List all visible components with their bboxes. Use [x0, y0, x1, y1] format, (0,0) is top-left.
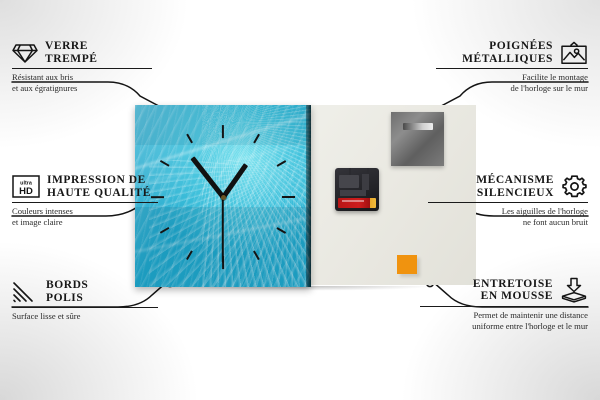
- divider: [12, 68, 152, 69]
- clock-tick: [276, 160, 286, 167]
- clock-tick: [253, 250, 260, 260]
- second-hand: [222, 197, 224, 263]
- product-photo: [135, 105, 476, 290]
- callout-impression-haute-qualite: ultra HD IMPRESSION DE HAUTE QUALITÉ Cou…: [12, 174, 158, 227]
- callout-title: BORDS POLIS: [46, 279, 88, 304]
- callout-description: Couleurs intenses et image claire: [12, 206, 158, 227]
- callout-verre-trempe: VERRE TREMPÉ Résistant aux bris et aux é…: [12, 40, 152, 93]
- callout-description: Les aiguilles de l'horloge ne font aucun…: [428, 206, 588, 227]
- callout-description: Facilite le montage de l'horloge sur le …: [436, 72, 588, 93]
- ultra-hd-icon: ultra HD: [12, 175, 40, 198]
- callout-description: Permet de maintenir une distance uniform…: [420, 310, 588, 331]
- divider: [436, 68, 588, 69]
- clock-tick: [282, 196, 295, 198]
- infographic-canvas: VERRE TREMPÉ Résistant aux bris et aux é…: [0, 0, 600, 400]
- hour-hand: [221, 163, 248, 198]
- diamond-icon: [12, 42, 38, 64]
- divider: [420, 306, 588, 307]
- clock-tick: [186, 134, 193, 144]
- clock-tick: [186, 250, 193, 260]
- handle-slot: [403, 123, 433, 130]
- picture-frame-icon: [560, 41, 588, 65]
- foam-spacer-icon: [560, 277, 588, 303]
- callout-description: Résistant aux bris et aux égratignures: [12, 72, 152, 93]
- callout-title: ENTRETOISE EN MOUSSE: [473, 278, 553, 303]
- minute-hand: [190, 156, 224, 198]
- clock-tick: [276, 227, 286, 234]
- clock-tick: [253, 134, 260, 144]
- callout-entretoise-en-mousse: ENTRETOISE EN MOUSSE Permet de maintenir…: [420, 277, 588, 331]
- metal-handle-plate: [391, 112, 444, 166]
- clock-mechanism: [335, 168, 379, 211]
- callout-mecanisme-silencieux: MÉCANISME SILENCIEUX Les aiguilles de l'…: [428, 174, 588, 227]
- callout-title: POIGNÉES MÉTALLIQUES: [462, 40, 553, 65]
- callout-title: VERRE TREMPÉ: [45, 40, 98, 65]
- divider: [12, 202, 158, 203]
- callout-title: IMPRESSION DE HAUTE QUALITÉ: [47, 174, 151, 199]
- clock-tick: [222, 125, 224, 138]
- wall-clock-face: [135, 105, 311, 287]
- clock-center-pin: [221, 195, 226, 200]
- clock-tick: [160, 227, 170, 234]
- callout-title: MÉCANISME SILENCIEUX: [476, 174, 554, 199]
- gear-icon: [561, 174, 588, 199]
- callout-description: Surface lisse et sûre: [12, 311, 158, 321]
- polished-edge-icon: [12, 281, 39, 303]
- foam-spacer: [397, 255, 417, 274]
- divider: [12, 307, 158, 308]
- callout-poignees-metalliques: POIGNÉES MÉTALLIQUES Facilite le montage…: [436, 40, 588, 93]
- callout-bords-polis: BORDS POLIS Surface lisse et sûre: [12, 279, 158, 322]
- clock-dial: [135, 105, 311, 287]
- battery: [338, 198, 376, 208]
- svg-text:HD: HD: [19, 186, 33, 197]
- divider: [428, 202, 588, 203]
- clock-tick: [160, 160, 170, 167]
